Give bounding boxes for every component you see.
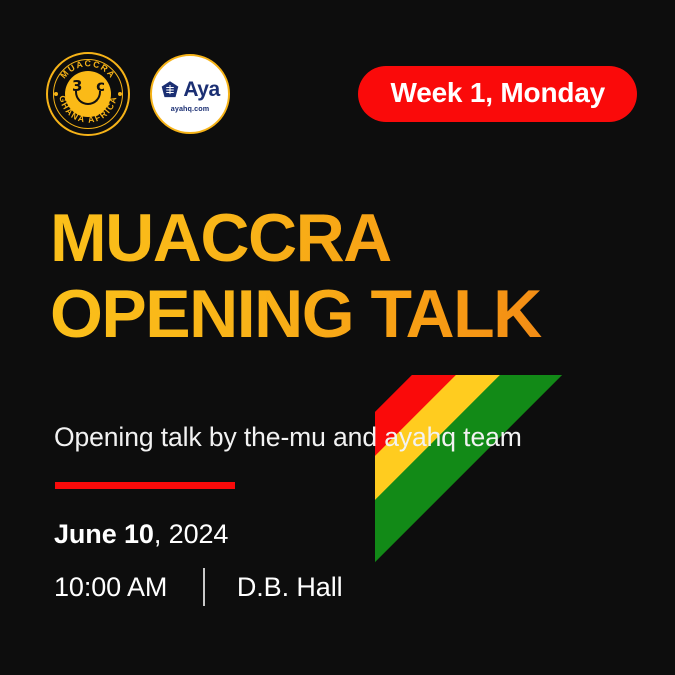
- aya-brand-text: Aya: [183, 79, 219, 100]
- muaccra-face-smile: [75, 91, 101, 105]
- muaccra-logo: MUACCRA GHANA AFRICA 3 c: [46, 52, 130, 136]
- event-time: 10:00 AM: [54, 572, 167, 603]
- green-stripe: [375, 375, 657, 675]
- poster-title-line-2: OPENING TALK: [50, 282, 635, 348]
- muaccra-smiley-face-icon: 3 c: [65, 71, 111, 117]
- poster-title-line-1: MUACCRA: [50, 206, 635, 272]
- poster-title-block: MUACCRA OPENING TALK: [50, 206, 635, 348]
- poster-subtitle: Opening talk by the-mu and ayahq team: [54, 422, 645, 453]
- aya-logo: Aya ayahq.com: [150, 54, 230, 134]
- red-stripe: [375, 375, 657, 589]
- aya-url-text: ayahq.com: [171, 104, 209, 113]
- event-poster: MUACCRA GHANA AFRICA 3 c Aya: [0, 0, 675, 675]
- event-time-venue: 10:00 AM D.B. Hall: [54, 568, 343, 606]
- event-date-year: , 2024: [154, 519, 228, 549]
- yellow-stripe: [375, 375, 657, 633]
- event-venue: D.B. Hall: [237, 572, 343, 603]
- poster-header: MUACCRA GHANA AFRICA 3 c Aya: [46, 52, 637, 136]
- red-divider: [55, 482, 235, 489]
- event-date: June 10, 2024: [54, 519, 228, 550]
- event-date-day: June 10: [54, 519, 154, 549]
- ghana-flag-stripes-decoration: [375, 375, 675, 675]
- aya-pentagon-icon: [160, 80, 180, 100]
- week-badge: Week 1, Monday: [358, 66, 637, 123]
- aya-wordmark: Aya: [160, 79, 219, 100]
- time-venue-separator: [203, 568, 205, 606]
